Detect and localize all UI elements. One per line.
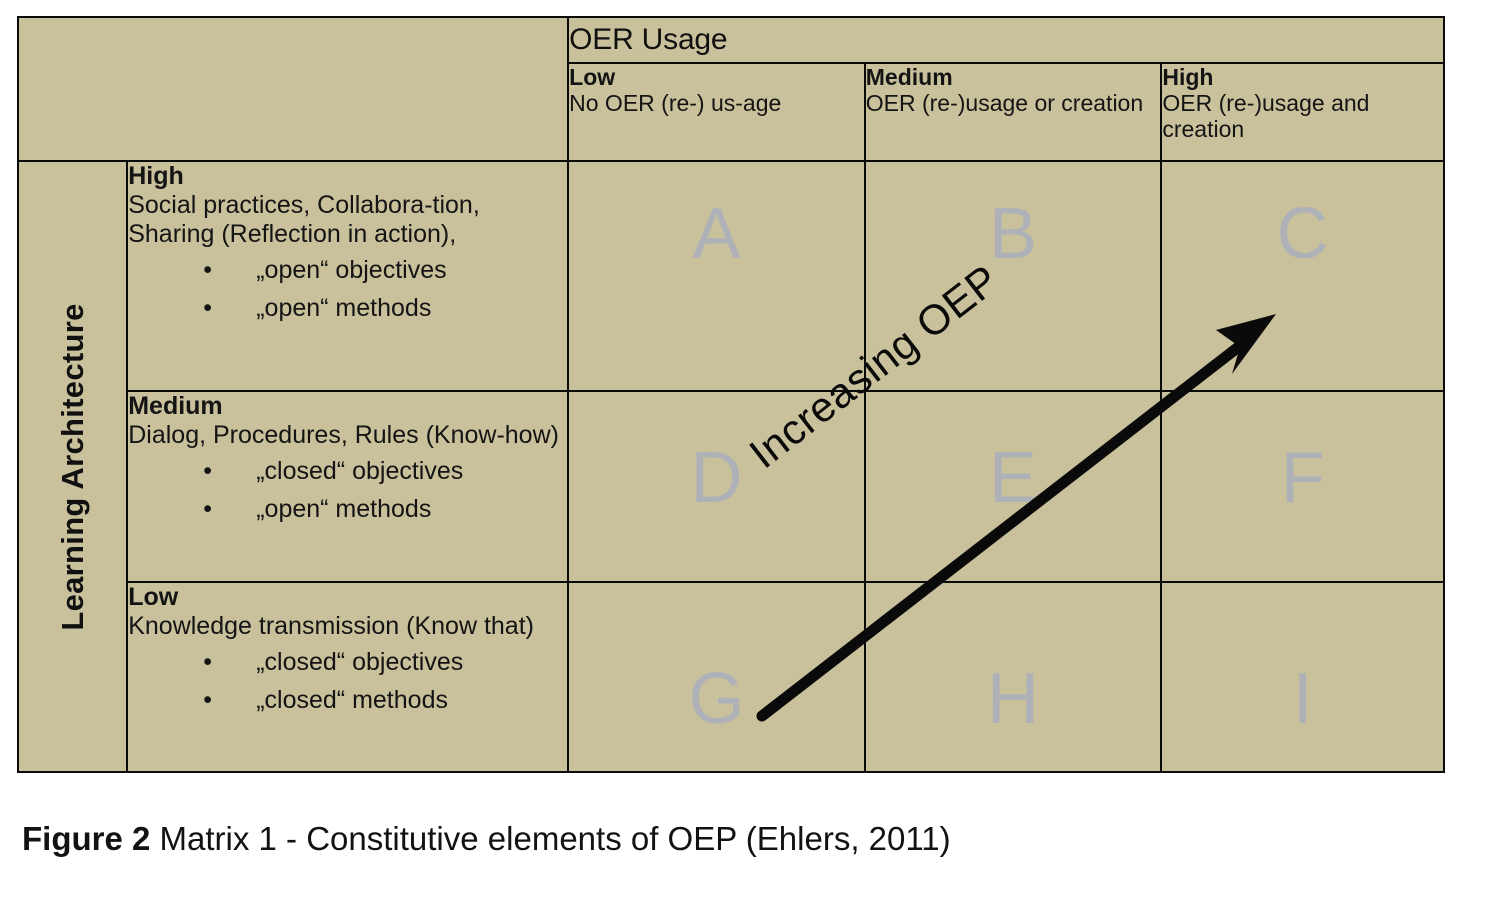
row-low-bullet-list: • „closed“ objectives • „closed“ methods — [128, 643, 567, 719]
matrix-corner-cell — [18, 17, 568, 161]
row-description-high: High Social practices, Collabora-tion, S… — [127, 161, 568, 391]
list-item-label: „closed“ objectives — [256, 457, 463, 485]
matrix-row-medium: Medium Dialog, Procedures, Rules (Know-h… — [18, 391, 1444, 581]
matrix-cell-letter: E — [866, 442, 1161, 514]
matrix-cell-letter: D — [569, 442, 864, 514]
matrix-cell-i: I — [1161, 582, 1444, 772]
table-header-row-top: OER Usage — [18, 17, 1444, 63]
matrix-cell-h: H — [865, 582, 1162, 772]
row-description-medium: Medium Dialog, Procedures, Rules (Know-h… — [127, 391, 568, 581]
column-header-low-level: Low — [569, 64, 864, 90]
figure-number: Figure 2 — [22, 820, 150, 857]
figure-caption-text: Matrix 1 - Constitutive elements of OEP … — [150, 820, 950, 857]
figure-container: OER Usage Low No OER (re-) us-age Medium… — [0, 0, 1488, 904]
row-axis-title: Learning Architecture — [55, 303, 91, 630]
list-item: • „closed“ methods — [128, 681, 567, 719]
matrix-cell-a: A — [568, 161, 865, 391]
matrix-cell-c: C — [1161, 161, 1444, 391]
column-header-high-description: OER (re-)usage and creation — [1162, 90, 1443, 142]
list-item-label: „open“ objectives — [256, 256, 446, 284]
figure-caption: Figure 2 Matrix 1 - Constitutive element… — [22, 818, 951, 860]
bullet-icon: • — [203, 452, 212, 490]
matrix-cell-letter: H — [866, 663, 1161, 735]
column-header-low-description: No OER (re-) us-age — [569, 90, 864, 116]
matrix-row-low: Low Knowledge transmission (Know that) •… — [18, 582, 1444, 772]
row-medium-body: Dialog, Procedures, Rules (Know-how) — [128, 421, 567, 450]
column-header-medium-level: Medium — [866, 64, 1161, 90]
bullet-icon: • — [203, 490, 212, 528]
matrix-cell-g: G — [568, 582, 865, 772]
list-item-label: „open“ methods — [256, 495, 431, 523]
row-description-low: Low Knowledge transmission (Know that) •… — [127, 582, 568, 772]
list-item-label: „closed“ objectives — [256, 648, 463, 676]
matrix-cell-letter: F — [1162, 442, 1443, 514]
matrix-cell-letter: C — [1162, 198, 1443, 270]
matrix-row-high: Learning Architecture High Social practi… — [18, 161, 1444, 391]
oep-matrix-table: OER Usage Low No OER (re-) us-age Medium… — [17, 16, 1445, 773]
matrix-cell-letter: B — [866, 198, 1161, 270]
row-axis-title-cell: Learning Architecture — [18, 161, 127, 772]
row-high-level: High — [128, 162, 567, 191]
bullet-icon: • — [203, 289, 212, 327]
column-header-medium: Medium OER (re-)usage or creation — [865, 63, 1162, 161]
row-medium-bullet-list: • „closed“ objectives • „open“ methods — [128, 452, 567, 528]
list-item: • „open“ objectives — [128, 251, 567, 289]
matrix-cell-letter: G — [569, 663, 864, 735]
row-high-body: Social practices, Collabora-tion, Sharin… — [128, 191, 567, 249]
matrix-cell-letter: I — [1162, 663, 1443, 735]
bullet-icon: • — [203, 681, 212, 719]
list-item: • „closed“ objectives — [128, 452, 567, 490]
matrix-cell-e: E — [865, 391, 1162, 581]
row-high-bullet-list: • „open“ objectives • „open“ methods — [128, 251, 567, 327]
row-low-level: Low — [128, 583, 567, 612]
list-item-label: „open“ methods — [256, 294, 431, 322]
row-low-body: Knowledge transmission (Know that) — [128, 612, 567, 641]
column-header-high-level: High — [1162, 64, 1443, 90]
matrix-cell-f: F — [1161, 391, 1444, 581]
list-item-label: „closed“ methods — [256, 686, 448, 714]
list-item: • „closed“ objectives — [128, 643, 567, 681]
column-header-low: Low No OER (re-) us-age — [568, 63, 865, 161]
column-header-high: High OER (re-)usage and creation — [1161, 63, 1444, 161]
bullet-icon: • — [203, 251, 212, 289]
list-item: • „open“ methods — [128, 289, 567, 327]
column-axis-title: OER Usage — [568, 17, 1444, 63]
row-medium-level: Medium — [128, 392, 567, 421]
bullet-icon: • — [203, 643, 212, 681]
matrix-cell-letter: A — [569, 198, 864, 270]
list-item: • „open“ methods — [128, 490, 567, 528]
column-header-medium-description: OER (re-)usage or creation — [866, 90, 1161, 116]
